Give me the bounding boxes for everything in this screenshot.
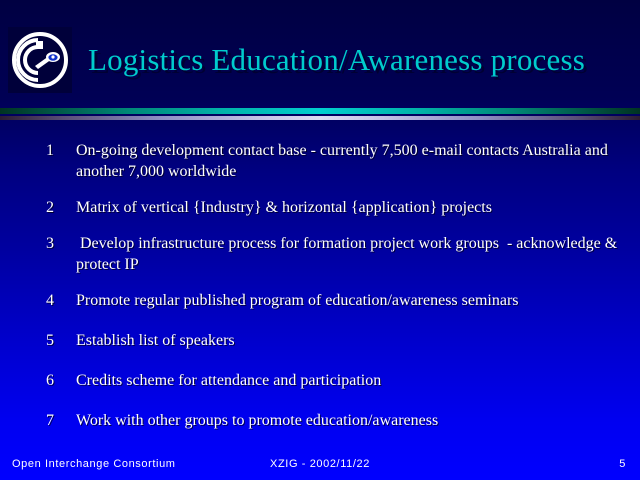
slide-body-list: 1 On-going development contact base - cu…	[44, 140, 628, 431]
slide-footer: Open Interchange Consortium XZIG - 2002/…	[0, 455, 640, 473]
footer-event-date: XZIG - 2002/11/22	[0, 455, 640, 473]
slide-title: Logistics Education/Awareness process	[88, 41, 628, 79]
list-item-number: 5	[44, 330, 76, 351]
oic-circular-logo-icon	[8, 27, 72, 93]
list-item-text: Develop infrastructure process for forma…	[76, 233, 628, 275]
list-item-text: Matrix of vertical {Industry} & horizont…	[76, 197, 628, 218]
list-item-text: Promote regular published program of edu…	[76, 290, 628, 311]
divider-rule-secondary	[0, 116, 640, 120]
list-item: 6 Credits scheme for attendance and part…	[44, 370, 628, 391]
list-item-number: 4	[44, 290, 76, 311]
list-item: 2 Matrix of vertical {Industry} & horizo…	[44, 197, 628, 218]
list-item: 5 Establish list of speakers	[44, 330, 628, 351]
list-item: 1 On-going development contact base - cu…	[44, 140, 628, 182]
presentation-slide: Logistics Education/Awareness process 1 …	[0, 0, 640, 480]
list-item-number: 7	[44, 410, 76, 431]
list-item: 3 Develop infrastructure process for for…	[44, 233, 628, 275]
list-item-text: Credits scheme for attendance and partic…	[76, 370, 628, 391]
list-item-text: Establish list of speakers	[76, 330, 628, 351]
list-item-text: Work with other groups to promote educat…	[76, 410, 628, 431]
list-item-number: 6	[44, 370, 76, 391]
divider-rule-accent	[0, 108, 640, 114]
slide-page-number: 5	[619, 455, 626, 473]
list-item-number: 1	[44, 140, 76, 161]
list-item: 4 Promote regular published program of e…	[44, 290, 628, 311]
list-item: 7 Work with other groups to promote educ…	[44, 410, 628, 431]
list-item-number: 2	[44, 197, 76, 218]
list-item-text: On-going development contact base - curr…	[76, 140, 628, 182]
list-item-number: 3	[44, 233, 76, 254]
